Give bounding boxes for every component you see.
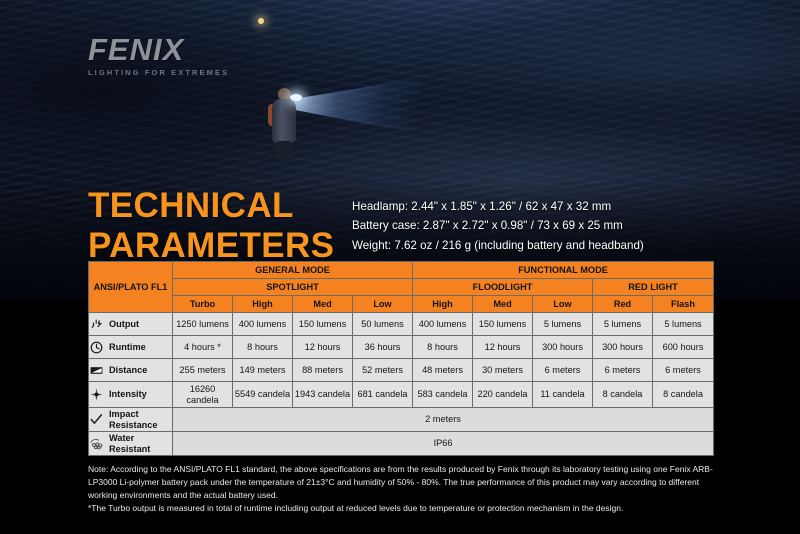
- water-drops-icon: [89, 436, 104, 451]
- level-header-spotlight-high: High: [233, 296, 293, 313]
- cell-distance-floodlight-high: 48 meters: [413, 359, 473, 382]
- logo-tagline: LIGHTING FOR EXTREMES: [88, 68, 229, 77]
- cell-intensity-spotlight-low: 681 candela: [353, 382, 413, 408]
- cell-output-floodlight-high: 400 lumens: [413, 313, 473, 336]
- row-label-text: Output: [109, 319, 139, 329]
- table-row: Impact Resistance 2 meters: [89, 408, 714, 432]
- table-header-levels: Turbo High Med Low High Med Low Red Flas…: [89, 296, 714, 313]
- table-standard-label: ANSI/PLATO FL1: [89, 262, 173, 313]
- cell-distance-red-red: 6 meters: [593, 359, 653, 382]
- spec-weight: Weight: 7.62 oz / 216 g (including batte…: [352, 236, 644, 255]
- cell-intensity-red-flash: 8 candela: [653, 382, 714, 408]
- beam-group-red-light: RED LIGHT: [593, 279, 714, 296]
- mode-group-functional: FUNCTIONAL MODE: [413, 262, 714, 279]
- cell-distance-spotlight-low: 52 meters: [353, 359, 413, 382]
- cell-impact-resistance-value: 2 meters: [173, 408, 714, 432]
- checkmark-icon: [89, 412, 104, 427]
- footnote-block: Note: According to the ANSI/PLATO FL1 st…: [88, 463, 716, 515]
- headlamp-light-source: [290, 94, 302, 101]
- row-label-line-2: Resistance: [109, 420, 158, 430]
- table-row: Distance 255 meters 149 meters 88 meters…: [89, 359, 714, 382]
- page-title-line-1: TECHNICAL: [88, 186, 334, 226]
- level-header-spotlight-turbo: Turbo: [173, 296, 233, 313]
- cell-runtime-spotlight-turbo: 4 hours *: [173, 336, 233, 359]
- page-title-line-2: PARAMETERS: [88, 226, 334, 266]
- dimension-specs: Headlamp: 2.44" x 1.85" x 1.26" / 62 x 4…: [352, 197, 644, 255]
- cell-runtime-floodlight-low: 300 hours: [533, 336, 593, 359]
- spec-battery-case-dimensions: Battery case: 2.87" x 2.72" x 0.98" / 73…: [352, 216, 644, 235]
- cell-intensity-red-red: 8 candela: [593, 382, 653, 408]
- row-label-runtime: Runtime: [89, 336, 173, 359]
- level-header-floodlight-high: High: [413, 296, 473, 313]
- table-row: Water Resistant IP66: [89, 432, 714, 456]
- cell-runtime-red-flash: 600 hours: [653, 336, 714, 359]
- level-header-red-red: Red: [593, 296, 653, 313]
- cell-runtime-floodlight-high: 8 hours: [413, 336, 473, 359]
- level-header-red-flash: Flash: [653, 296, 714, 313]
- intensity-burst-icon: [89, 387, 104, 402]
- row-label-water-resistant: Water Resistant: [89, 432, 173, 456]
- fenix-logo: FENIX LIGHTING FOR EXTREMES: [88, 34, 229, 77]
- row-label-intensity: Intensity: [89, 382, 173, 408]
- cell-output-floodlight-low: 5 lumens: [533, 313, 593, 336]
- specifications-table: ANSI/PLATO FL1 GENERAL MODE FUNCTIONAL M…: [88, 261, 714, 456]
- cell-output-red-flash: 5 lumens: [653, 313, 714, 336]
- cell-intensity-floodlight-low: 11 candela: [533, 382, 593, 408]
- cell-distance-floodlight-med: 30 meters: [473, 359, 533, 382]
- cell-runtime-spotlight-high: 8 hours: [233, 336, 293, 359]
- row-label-text: Water Resistant: [109, 433, 150, 453]
- cell-distance-spotlight-med: 88 meters: [293, 359, 353, 382]
- row-label-text: Impact Resistance: [109, 409, 158, 429]
- cell-runtime-floodlight-med: 12 hours: [473, 336, 533, 359]
- specifications-table-wrapper: ANSI/PLATO FL1 GENERAL MODE FUNCTIONAL M…: [88, 261, 713, 456]
- table-row: Intensity 16260 candela 5549 candela 194…: [89, 382, 714, 408]
- cell-intensity-spotlight-turbo: 16260 candela: [173, 382, 233, 408]
- table-header-mode-groups: ANSI/PLATO FL1 GENERAL MODE FUNCTIONAL M…: [89, 262, 714, 279]
- light-burst-icon: [89, 317, 104, 332]
- cell-runtime-spotlight-med: 12 hours: [293, 336, 353, 359]
- moon-icon: [258, 18, 264, 24]
- level-header-spotlight-low: Low: [353, 296, 413, 313]
- row-label-line-1: Impact: [109, 409, 139, 419]
- beam-group-spotlight: SPOTLIGHT: [173, 279, 413, 296]
- cell-runtime-red-red: 300 hours: [593, 336, 653, 359]
- cell-output-floodlight-med: 150 lumens: [473, 313, 533, 336]
- row-label-output: Output: [89, 313, 173, 336]
- cell-distance-floodlight-low: 6 meters: [533, 359, 593, 382]
- mode-group-general: GENERAL MODE: [173, 262, 413, 279]
- row-label-distance: Distance: [89, 359, 173, 382]
- cell-intensity-spotlight-high: 5549 candela: [233, 382, 293, 408]
- row-label-line-1: Water: [109, 433, 134, 443]
- cell-intensity-floodlight-high: 583 candela: [413, 382, 473, 408]
- cell-output-red-red: 5 lumens: [593, 313, 653, 336]
- cell-runtime-spotlight-low: 36 hours: [353, 336, 413, 359]
- footnote-asterisk: *The Turbo output is measured in total o…: [88, 502, 716, 515]
- cell-output-spotlight-high: 400 lumens: [233, 313, 293, 336]
- row-label-line-2: Resistant: [109, 444, 150, 454]
- logo-wordmark: FENIX: [88, 34, 229, 65]
- cell-intensity-spotlight-med: 1943 candela: [293, 382, 353, 408]
- cell-distance-spotlight-turbo: 255 meters: [173, 359, 233, 382]
- product-spec-sheet: FENIX LIGHTING FOR EXTREMES TECHNICAL PA…: [0, 0, 800, 534]
- page-title: TECHNICAL PARAMETERS: [88, 186, 334, 266]
- table-row: Runtime 4 hours * 8 hours 12 hours 36 ho…: [89, 336, 714, 359]
- table-header-beam-groups: SPOTLIGHT FLOODLIGHT RED LIGHT: [89, 279, 714, 296]
- hiker-body: [272, 99, 296, 143]
- hiker-legs: [276, 141, 292, 159]
- row-label-text: Distance: [109, 365, 147, 375]
- footnote-note: Note: According to the ANSI/PLATO FL1 st…: [88, 463, 716, 502]
- beam-group-floodlight: FLOODLIGHT: [413, 279, 593, 296]
- level-header-floodlight-low: Low: [533, 296, 593, 313]
- row-label-text: Runtime: [109, 342, 146, 352]
- clock-icon: [89, 340, 104, 355]
- beam-distance-icon: [89, 363, 104, 378]
- cell-intensity-floodlight-med: 220 candela: [473, 382, 533, 408]
- level-header-spotlight-med: Med: [293, 296, 353, 313]
- level-header-floodlight-med: Med: [473, 296, 533, 313]
- cell-output-spotlight-low: 50 lumens: [353, 313, 413, 336]
- spec-headlamp-dimensions: Headlamp: 2.44" x 1.85" x 1.26" / 62 x 4…: [352, 197, 644, 216]
- table-row: Output 1250 lumens 400 lumens 150 lumens…: [89, 313, 714, 336]
- cell-output-spotlight-turbo: 1250 lumens: [173, 313, 233, 336]
- cell-output-spotlight-med: 150 lumens: [293, 313, 353, 336]
- row-label-impact-resistance: Impact Resistance: [89, 408, 173, 432]
- row-label-text: Intensity: [109, 389, 147, 399]
- cell-distance-spotlight-high: 149 meters: [233, 359, 293, 382]
- cell-distance-red-flash: 6 meters: [653, 359, 714, 382]
- cell-water-resistant-value: IP66: [173, 432, 714, 456]
